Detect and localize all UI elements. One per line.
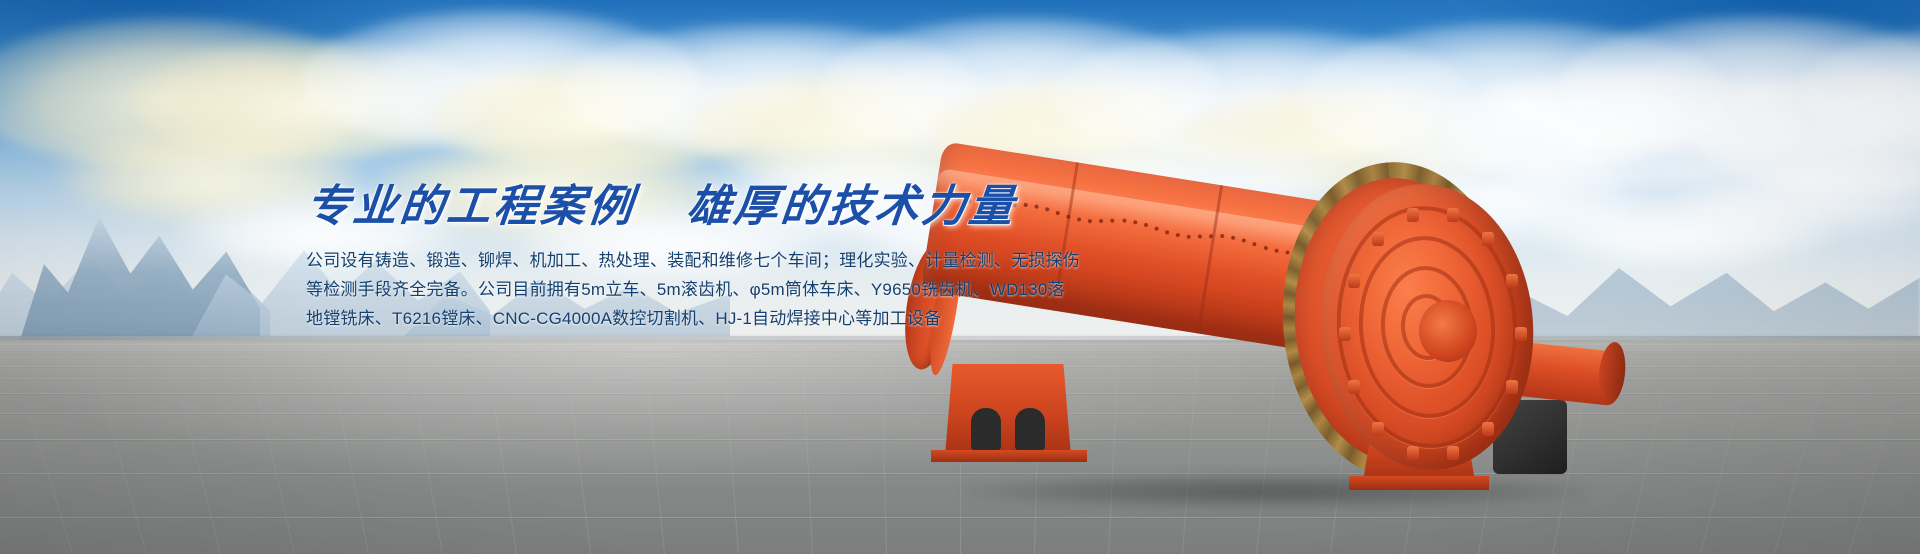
drum-rivet bbox=[1099, 219, 1104, 224]
mill-support-cutout bbox=[1015, 408, 1045, 450]
drum-rivet bbox=[1175, 233, 1180, 238]
head-bolt-lug bbox=[1482, 232, 1494, 246]
headline-part-2: 雄厚的技术力量 bbox=[684, 182, 1018, 231]
head-bolt-lug bbox=[1339, 327, 1351, 341]
floor-perspective-line bbox=[1848, 349, 1912, 554]
drum-rivet bbox=[1088, 219, 1093, 224]
head-bolt-lug bbox=[1372, 422, 1384, 436]
mill-support-base bbox=[1349, 476, 1489, 490]
floor-perspective-line bbox=[326, 344, 369, 554]
floor-perspective-line bbox=[168, 346, 221, 554]
drum-rivet bbox=[1274, 248, 1279, 253]
head-bolt-lug bbox=[1515, 327, 1527, 341]
floor-perspective-line bbox=[1700, 346, 1753, 554]
floor-perspective-line bbox=[801, 340, 813, 554]
floor-perspective-line bbox=[1774, 348, 1833, 554]
head-bolt-lug bbox=[1407, 446, 1419, 460]
drum-rivet bbox=[1231, 236, 1236, 241]
mill-support-front bbox=[945, 364, 1071, 456]
floor-perspective-line bbox=[247, 345, 295, 554]
drum-rivet bbox=[1252, 242, 1257, 247]
drum-rivet bbox=[1077, 217, 1082, 222]
mill-support-cutout bbox=[971, 408, 1001, 450]
drum-rivet bbox=[1220, 234, 1225, 239]
floor-perspective-line bbox=[9, 349, 73, 554]
banner-description: 公司设有铸造、锻造、铆焊、机加工、热处理、装配和维修七个车间；理化实验、计量检测… bbox=[306, 246, 1066, 333]
drum-rivet bbox=[1198, 234, 1203, 239]
floor-perspective-line bbox=[484, 342, 517, 554]
headline-part-1: 专业的工程案例 bbox=[303, 182, 637, 231]
drum-rivet bbox=[1122, 219, 1127, 224]
drum-rivet bbox=[1133, 220, 1138, 225]
head-bolt-lug bbox=[1447, 208, 1459, 222]
head-bolt-lug bbox=[1348, 380, 1360, 394]
drum-rivet bbox=[1285, 250, 1290, 255]
description-line-3: 地镗铣床、T6216镗床、CNC-CG4000A数控切割机、HJ-1自动焊接中心… bbox=[306, 304, 1066, 333]
floor-perspective-line bbox=[881, 340, 887, 554]
floor-perspective-line bbox=[88, 348, 147, 554]
drum-rivet bbox=[1143, 223, 1148, 228]
floor-perspective-line bbox=[722, 341, 739, 554]
head-bolt-lug bbox=[1372, 232, 1384, 246]
head-bolt-lug bbox=[1506, 380, 1518, 394]
banner-copy: 专业的工程案例 雄厚的技术力量 公司设有铸造、锻造、铆焊、机加工、热处理、装配和… bbox=[306, 182, 1066, 333]
floor-perspective-line bbox=[564, 342, 591, 554]
head-bolt-lug bbox=[1407, 208, 1419, 222]
drum-seam bbox=[1197, 185, 1223, 334]
drum-rivet bbox=[1165, 230, 1170, 235]
drum-rivet bbox=[1154, 226, 1159, 231]
head-bolt-lug bbox=[1482, 422, 1494, 436]
description-line-1: 公司设有铸造、锻造、铆焊、机加工、热处理、装配和维修七个车间；理化实验、计量检测… bbox=[306, 246, 1066, 275]
floor-perspective-line bbox=[643, 341, 665, 554]
page-title: 专业的工程案例 雄厚的技术力量 bbox=[303, 182, 1068, 232]
marketing-banner: 专业的工程案例 雄厚的技术力量 公司设有铸造、锻造、铆焊、机加工、热处理、装配和… bbox=[0, 0, 1920, 554]
mill-support-base bbox=[931, 450, 1087, 462]
floor-perspective-line bbox=[405, 343, 443, 554]
description-line-2: 等检测手段齐全完备。公司目前拥有5m立车、5m滚齿机、φ5m筒体车床、Y9650… bbox=[306, 275, 1066, 304]
drum-rivet bbox=[1110, 218, 1115, 223]
drum-rivet bbox=[1263, 246, 1268, 251]
mill-hub bbox=[1419, 300, 1477, 362]
drum-rivet bbox=[1242, 238, 1247, 243]
drum-rivet bbox=[1186, 234, 1191, 239]
head-bolt-lug bbox=[1506, 274, 1518, 288]
floor-perspective-line bbox=[1626, 345, 1674, 554]
head-bolt-lug bbox=[1348, 274, 1360, 288]
head-bolt-lug bbox=[1447, 446, 1459, 460]
